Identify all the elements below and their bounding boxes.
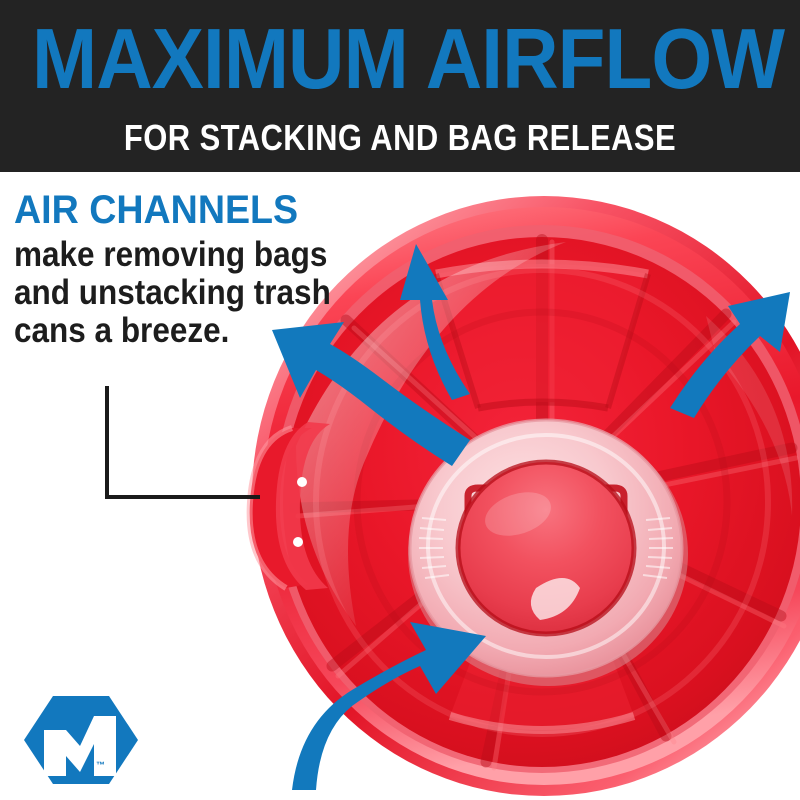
page-subtitle: FOR STACKING AND BAG RELEASE [56, 118, 744, 158]
handle-drain-hole-upper [297, 477, 307, 487]
trademark-symbol: ™ [96, 760, 106, 770]
logo-hexagon-shape [24, 696, 138, 784]
brand-logo[interactable] [22, 694, 140, 786]
hexagon-m-logo-icon [22, 694, 140, 786]
infographic-canvas: MAXIMUM AIRFLOW FOR STACKING AND BAG REL… [0, 0, 800, 800]
callout-body-line-1: make removing bags [14, 236, 320, 274]
center-raised-disc [408, 420, 688, 686]
handle-drain-hole-lower [293, 537, 303, 547]
callout-heading: AIR CHANNELS [14, 188, 334, 232]
callout-body-line-2: and unstacking trash [14, 274, 320, 312]
callout-body-line-3: cans a breeze. [14, 312, 320, 350]
callout-body: make removing bags and unstacking trash … [14, 236, 320, 350]
page-title: MAXIMUM AIRFLOW [32, 14, 768, 106]
callout-text-block: AIR CHANNELS make removing bags and unst… [14, 188, 354, 350]
header-banner: MAXIMUM AIRFLOW FOR STACKING AND BAG REL… [0, 0, 800, 172]
